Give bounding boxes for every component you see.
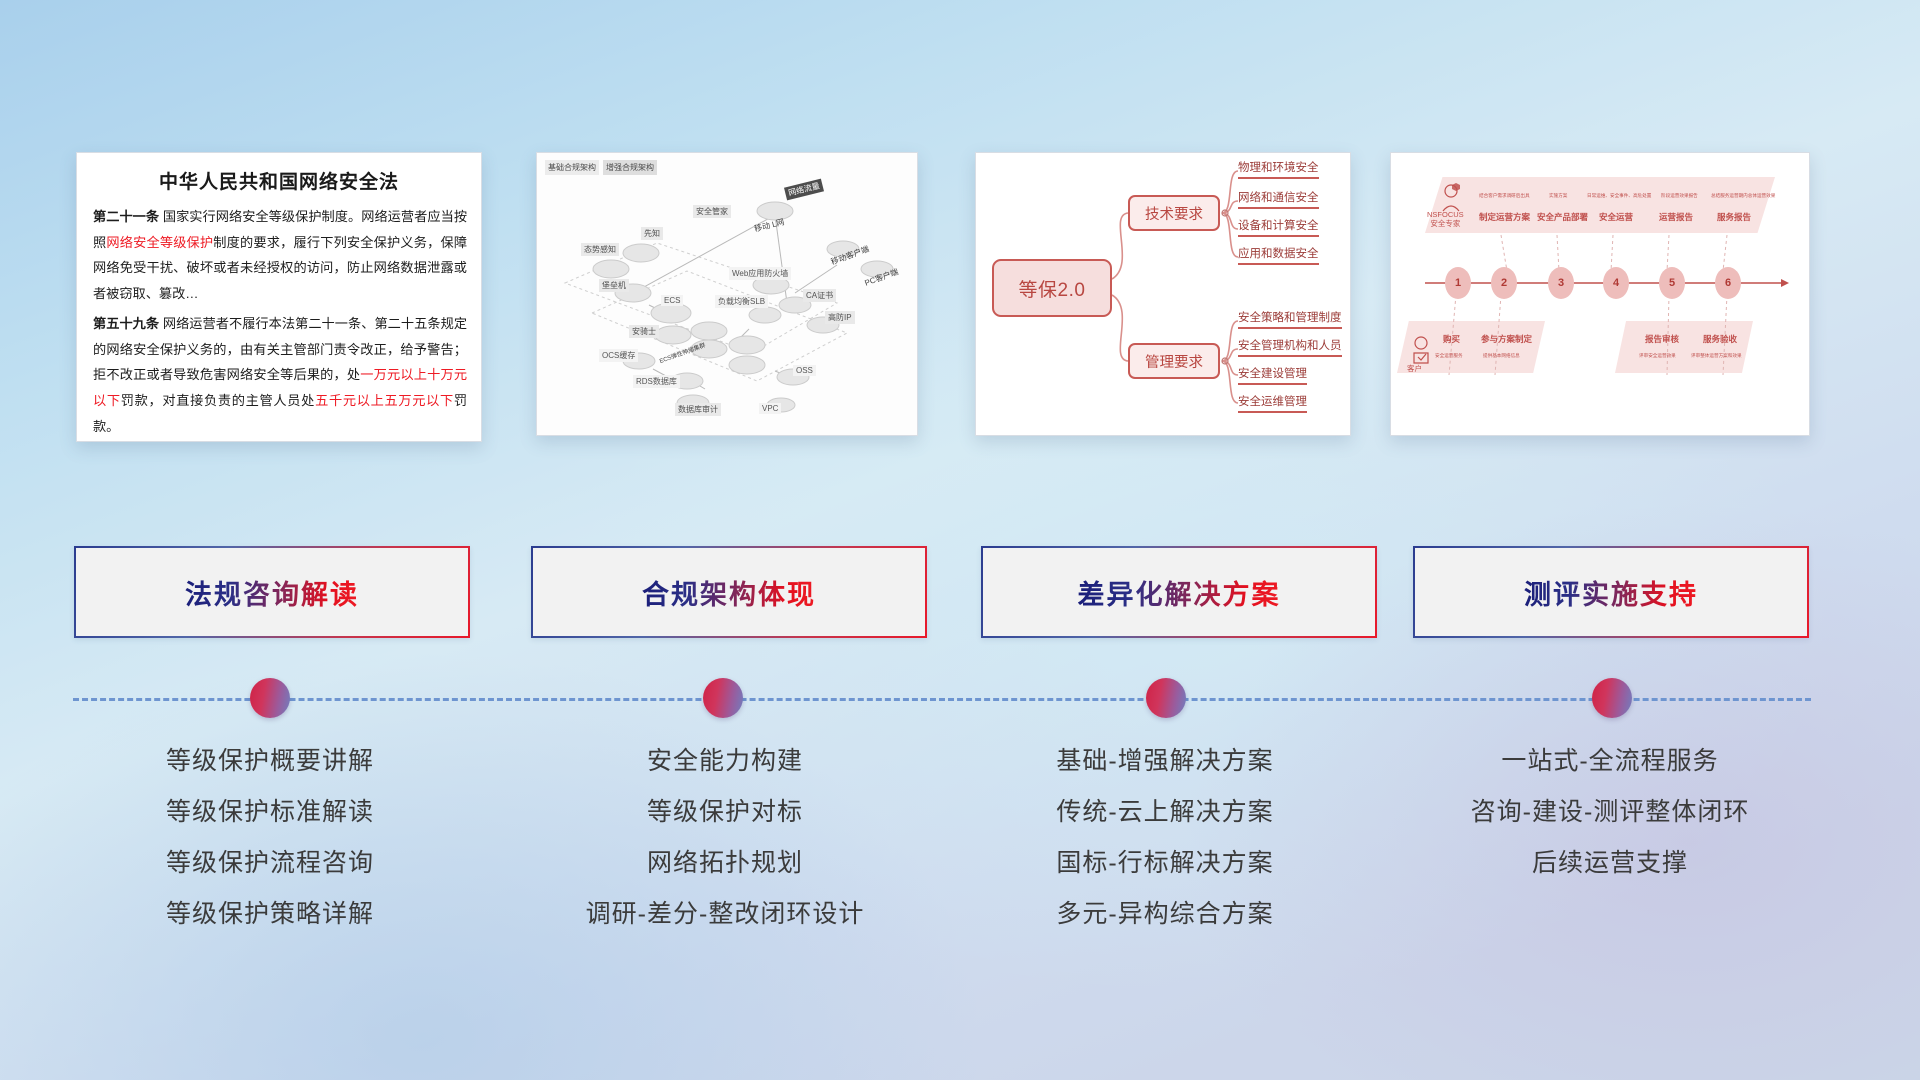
process-bottom-sub-1: 安全运营服务 xyxy=(1435,353,1463,359)
mindmap-leaf-security-org-personnel: 安全管理机构和人员 xyxy=(1238,337,1342,357)
process-node-5: 5 xyxy=(1659,267,1685,299)
detail-list-compliance-architecture: 安全能力构建 等级保护对标 网络拓扑规划 调研-差分-整改闭环设计 xyxy=(510,736,940,940)
list-item: 后续运营支撑 xyxy=(1395,838,1825,889)
arch-node-oss: OSS xyxy=(793,365,816,376)
detail-list-regulation-consulting: 等级保护概要讲解 等级保护标准解读 等级保护流程咨询 等级保护策略详解 xyxy=(55,736,485,940)
process-node-6: 6 xyxy=(1715,267,1741,299)
arch-node-ocs-cache: OCS缓存 xyxy=(599,349,638,362)
law-article-59: 第五十九条 网络运营者不履行本法第二十一条、第二十五条规定的网络安全保护义务的，… xyxy=(93,311,467,440)
headline-label-1: 法规咨询解读 xyxy=(185,573,359,612)
preview-cards-row: 中华人民共和国网络安全法 第二十一条 国家实行网络安全等级保护制度。网络运营者应… xyxy=(0,0,1920,470)
list-item: 等级保护策略详解 xyxy=(55,889,485,940)
arch-node-security-butler: 安全管家 xyxy=(693,205,731,218)
mindmap-leaf-physical-environment: 物理和环境安全 xyxy=(1238,159,1319,179)
detail-list-differentiated-solution: 基础-增强解决方案 传统-云上解决方案 国标-行标解决方案 多元-异构综合方案 xyxy=(950,736,1380,940)
process-top-sub-2: 实施方案 xyxy=(1549,193,1567,199)
architecture-diagram: 基础合规架构 增强合规架构 xyxy=(537,153,917,435)
process-top-sub-5: 总结服务运营期内总体运营效果 xyxy=(1711,193,1775,199)
arch-node-web-application-firewall: Web应用防火墙 xyxy=(729,267,791,280)
headline-box-regulation-consulting[interactable]: 法规咨询解读 xyxy=(74,546,470,638)
arch-node-ca-certificate: CA证书 xyxy=(803,289,836,302)
law-article-21-label: 第二十一条 xyxy=(93,209,159,224)
process-actor-customer: 客户 xyxy=(1407,365,1422,374)
headline-box-compliance-architecture[interactable]: 合规架构体现 xyxy=(531,546,927,638)
law-article-59-highlight-b: 五千元以上五万元以下 xyxy=(315,393,454,408)
list-item: 等级保护标准解读 xyxy=(55,787,485,838)
list-item: 传统-云上解决方案 xyxy=(950,787,1380,838)
process-node-1: 1 xyxy=(1445,267,1471,299)
arch-node-rds-database: RDS数据库 xyxy=(633,375,680,388)
law-article-21: 第二十一条 国家实行网络安全等级保护制度。网络运营者应当按照网络安全等级保护制度… xyxy=(93,204,467,307)
headline-label-4: 测评实施支持 xyxy=(1524,573,1698,612)
list-item: 等级保护流程咨询 xyxy=(55,838,485,889)
process-top-sub-4: 阶段运营效果报告 xyxy=(1661,193,1698,199)
process-bottom-title-4: 服务验收 xyxy=(1703,333,1737,345)
list-item: 多元-异构综合方案 xyxy=(950,889,1380,940)
process-top-sub-1: 结合客户需求调研后出具 xyxy=(1479,193,1530,199)
card-service-process[interactable]: NSFOCUS 安全专家 客户 结合客户需求调研后出具 制定运营方案 实施方案 … xyxy=(1390,152,1810,436)
process-bottom-sub-4: 评审整体运营方案和效果 xyxy=(1691,353,1742,359)
mindmap-root: 等保2.0 xyxy=(992,259,1112,317)
timeline-dashed-line xyxy=(73,698,1811,701)
list-item: 网络拓扑规划 xyxy=(510,838,940,889)
mindmap-branch-technical: 技术要求 xyxy=(1128,195,1220,231)
headline-row: 法规咨询解读 合规架构体现 差异化解决方案 测评实施支持 xyxy=(0,546,1920,646)
process-bottom-title-2: 参与方案制定 xyxy=(1481,333,1532,345)
headline-box-differentiated-solution[interactable]: 差异化解决方案 xyxy=(981,546,1377,638)
law-article-59-text-b: 罚款，对直接负责的主管人员处 xyxy=(121,393,315,408)
list-item: 安全能力构建 xyxy=(510,736,940,787)
process-bottom-title-1: 购买 xyxy=(1443,333,1460,345)
arch-node-situational-awareness: 态势感知 xyxy=(581,243,619,256)
process-node-2: 2 xyxy=(1491,267,1517,299)
detail-lists-row: 等级保护概要讲解 等级保护标准解读 等级保护流程咨询 等级保护策略详解 安全能力… xyxy=(0,736,1920,976)
list-item: 等级保护概要讲解 xyxy=(55,736,485,787)
arch-node-vpc: VPC xyxy=(759,403,781,414)
timeline-dot-4[interactable] xyxy=(1592,678,1632,718)
process-actor-expert-line2: 安全专家 xyxy=(1430,219,1460,228)
process-top-sub-3: 日常运维、安全事件、高危处置 xyxy=(1587,193,1651,199)
slide-root: 中华人民共和国网络安全法 第二十一条 国家实行网络安全等级保护制度。网络运营者应… xyxy=(0,0,1920,1080)
arch-node-ecs: ECS xyxy=(661,295,683,306)
card-mlps-mindmap[interactable]: 等保2.0 技术要求 管理要求 物理和环境安全 网络和通信安全 设备和计算安全 … xyxy=(975,152,1351,436)
headline-label-2: 合规架构体现 xyxy=(642,573,816,612)
detail-list-assessment-support: 一站式-全流程服务 咨询-建设-测评整体闭环 后续运营支撑 xyxy=(1395,736,1825,889)
mindmap-leaf-network-communication: 网络和通信安全 xyxy=(1238,189,1319,209)
list-item: 咨询-建设-测评整体闭环 xyxy=(1395,787,1825,838)
process-bottom-title-3: 报告审核 xyxy=(1645,333,1679,345)
headline-label-3: 差异化解决方案 xyxy=(1078,573,1281,612)
arch-node-bastion-host: 堡垒机 xyxy=(599,279,629,292)
process-actor-expert: NSFOCUS 安全专家 xyxy=(1427,211,1464,228)
process-bottom-sub-2: 提供基本网络信息 xyxy=(1483,353,1520,359)
list-item: 一站式-全流程服务 xyxy=(1395,736,1825,787)
headline-box-assessment-support[interactable]: 测评实施支持 xyxy=(1413,546,1809,638)
arch-node-xianzhi: 先知 xyxy=(641,227,663,240)
mindmap-diagram: 等保2.0 技术要求 管理要求 物理和环境安全 网络和通信安全 设备和计算安全 … xyxy=(976,153,1350,435)
law-title: 中华人民共和国网络安全法 xyxy=(77,167,481,194)
timeline-dot-3[interactable] xyxy=(1146,678,1186,718)
process-diagram: NSFOCUS 安全专家 客户 结合客户需求调研后出具 制定运营方案 实施方案 … xyxy=(1391,153,1809,435)
arch-node-anti-ddos-ip: 高防IP xyxy=(825,311,855,324)
list-item: 等级保护对标 xyxy=(510,787,940,838)
arch-node-slb: 负载均衡SLB xyxy=(715,295,768,308)
card-compliance-architecture[interactable]: 基础合规架构 增强合规架构 xyxy=(536,152,918,436)
process-top-title-5: 服务报告 xyxy=(1717,211,1751,223)
mindmap-leaf-security-construction: 安全建设管理 xyxy=(1238,365,1307,385)
process-top-title-2: 安全产品部署 xyxy=(1537,211,1588,223)
list-item: 国标-行标解决方案 xyxy=(950,838,1380,889)
mindmap-leaf-device-computing: 设备和计算安全 xyxy=(1238,217,1319,237)
arch-node-database-audit: 数据库审计 xyxy=(675,403,721,416)
process-bottom-sub-3: 评审安全运营效果 xyxy=(1639,353,1676,359)
list-item: 调研-差分-整改闭环设计 xyxy=(510,889,940,940)
mindmap-leaf-security-operations: 安全运维管理 xyxy=(1238,393,1307,413)
process-node-4: 4 xyxy=(1603,267,1629,299)
list-item: 基础-增强解决方案 xyxy=(950,736,1380,787)
timeline-dot-1[interactable] xyxy=(250,678,290,718)
law-article-21-highlight: 网络安全等级保护 xyxy=(106,235,213,250)
arch-node-anqishi: 安骑士 xyxy=(629,325,659,338)
process-top-title-3: 安全运营 xyxy=(1599,211,1633,223)
law-body: 第二十一条 国家实行网络安全等级保护制度。网络运营者应当按照网络安全等级保护制度… xyxy=(77,204,481,442)
card-cybersecurity-law[interactable]: 中华人民共和国网络安全法 第二十一条 国家实行网络安全等级保护制度。网络运营者应… xyxy=(76,152,482,442)
process-top-title-1: 制定运营方案 xyxy=(1479,211,1530,223)
mindmap-branch-management: 管理要求 xyxy=(1128,343,1220,379)
process-node-3: 3 xyxy=(1548,267,1574,299)
mindmap-leaf-security-policy: 安全策略和管理制度 xyxy=(1238,309,1342,329)
timeline-connector xyxy=(0,670,1920,730)
mindmap-leaf-application-data: 应用和数据安全 xyxy=(1238,245,1319,265)
law-article-59-label: 第五十九条 xyxy=(93,316,159,331)
process-top-title-4: 运营报告 xyxy=(1659,211,1693,223)
timeline-dot-2[interactable] xyxy=(703,678,743,718)
